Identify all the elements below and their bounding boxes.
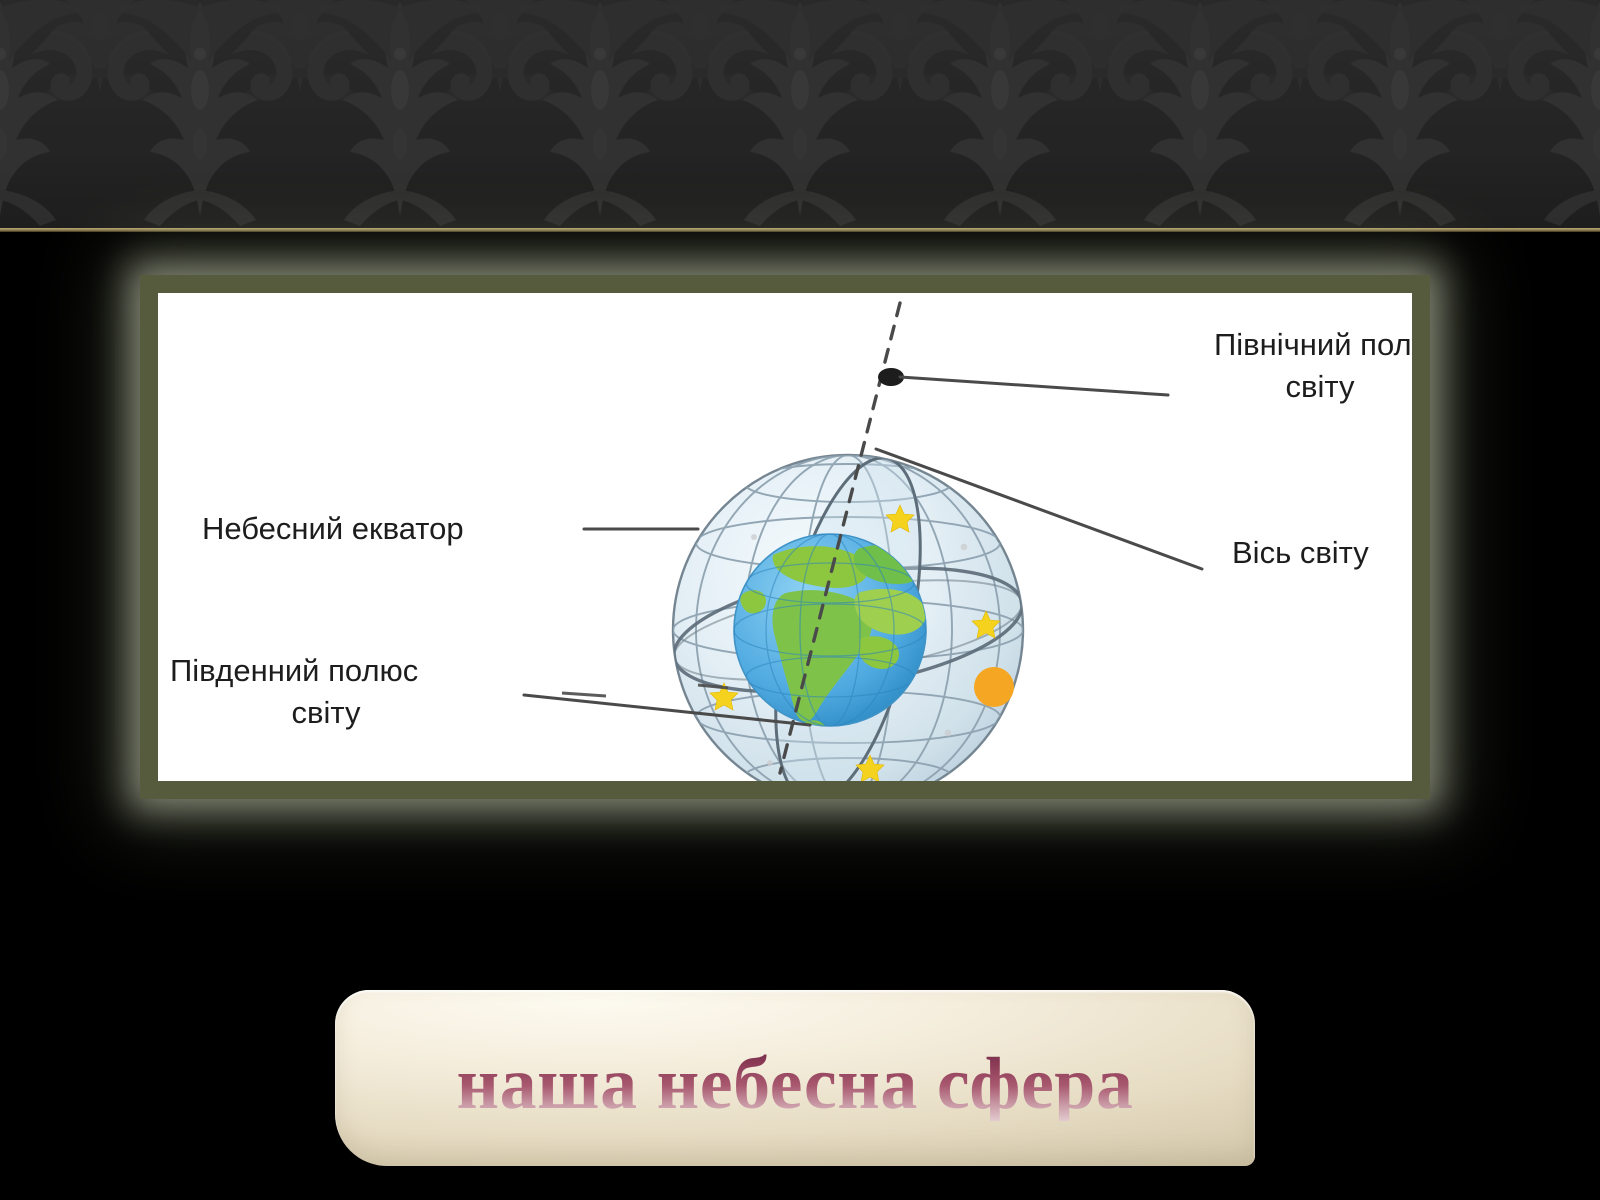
- label-celestial-equator: Небесний екватор: [202, 511, 464, 546]
- top-decorative-band: [0, 0, 1600, 232]
- label-north-pole-line1: Північний полюс: [1214, 327, 1412, 362]
- label-north-pole-line2: світу: [1286, 369, 1355, 404]
- label-celestial-axis: Вісь світу: [1232, 535, 1369, 570]
- slide-root: Північний полюс світу Вісь світу Небесни…: [0, 0, 1600, 1200]
- diagram-picture-frame: Північний полюс світу Вісь світу Небесни…: [140, 275, 1430, 799]
- label-south-pole-line1: Південний полюс: [170, 653, 418, 688]
- diagram-canvas: Північний полюс світу Вісь світу Небесни…: [158, 293, 1412, 781]
- sun-icon: [974, 667, 1014, 707]
- celestial-sphere-diagram: Північний полюс світу Вісь світу Небесни…: [158, 293, 1412, 781]
- damask-pattern-icon: [0, 0, 1600, 232]
- gold-divider-rule: [0, 228, 1600, 232]
- caption-title: наша небесна сфера: [457, 1047, 1134, 1121]
- caption-banner: наша небесна сфера: [335, 990, 1255, 1166]
- label-south-pole-line2: світу: [292, 695, 361, 730]
